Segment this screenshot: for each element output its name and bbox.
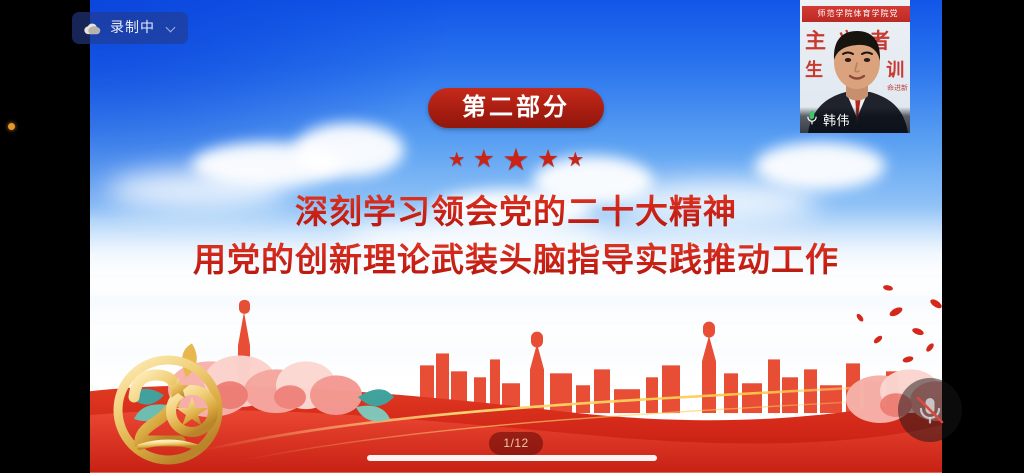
microphone-icon bbox=[806, 110, 818, 130]
cloud-icon bbox=[83, 22, 101, 35]
floating-petals bbox=[855, 285, 942, 364]
mute-toggle-button[interactable] bbox=[898, 378, 962, 442]
cloud-shape bbox=[755, 142, 885, 190]
recording-status-label: 录制中 bbox=[110, 21, 155, 35]
letterbox-left bbox=[0, 0, 90, 473]
star-icon: ★ bbox=[448, 150, 466, 170]
status-indicator-dot bbox=[8, 123, 15, 130]
slide-title-line-1: 深刻学习领会党的二十大精神 bbox=[90, 188, 942, 236]
slide-title-block: 深刻学习领会党的二十大精神 用党的创新理论武装头脑指导实践推动工作 bbox=[90, 188, 942, 284]
slide-part-banner: 第二部分 bbox=[428, 88, 604, 128]
chevron-down-icon[interactable] bbox=[167, 24, 176, 33]
slide-page-indicator: 1/12 bbox=[489, 432, 543, 455]
microphone-muted-icon bbox=[913, 393, 947, 427]
anniversary-emblem-icon bbox=[104, 355, 232, 465]
star-icon: ★ bbox=[566, 150, 584, 170]
cloud-icon-svg bbox=[83, 22, 101, 35]
recording-status-badge[interactable]: 录制中 bbox=[72, 12, 188, 44]
participant-name: 韩伟 bbox=[823, 114, 850, 127]
participant-video-tile[interactable]: 师范学院体育学院党 主义者 生 培训 命进新 bbox=[800, 0, 910, 133]
star-row: ★ ★ ★ ★ ★ bbox=[448, 144, 585, 175]
cloud-shape bbox=[294, 123, 404, 177]
participant-nameplate: 韩伟 bbox=[800, 107, 910, 133]
star-icon: ★ bbox=[473, 147, 495, 172]
screen-root: 第二部分 ★ ★ ★ ★ ★ 深刻学习领会党的二十大精神 用党的创新理论武装头脑… bbox=[0, 0, 1024, 473]
emblem-svg bbox=[104, 355, 232, 465]
star-icon: ★ bbox=[502, 144, 530, 175]
microphone-icon-svg bbox=[806, 110, 818, 125]
home-indicator-bar[interactable] bbox=[367, 455, 657, 461]
star-icon: ★ bbox=[537, 147, 559, 172]
